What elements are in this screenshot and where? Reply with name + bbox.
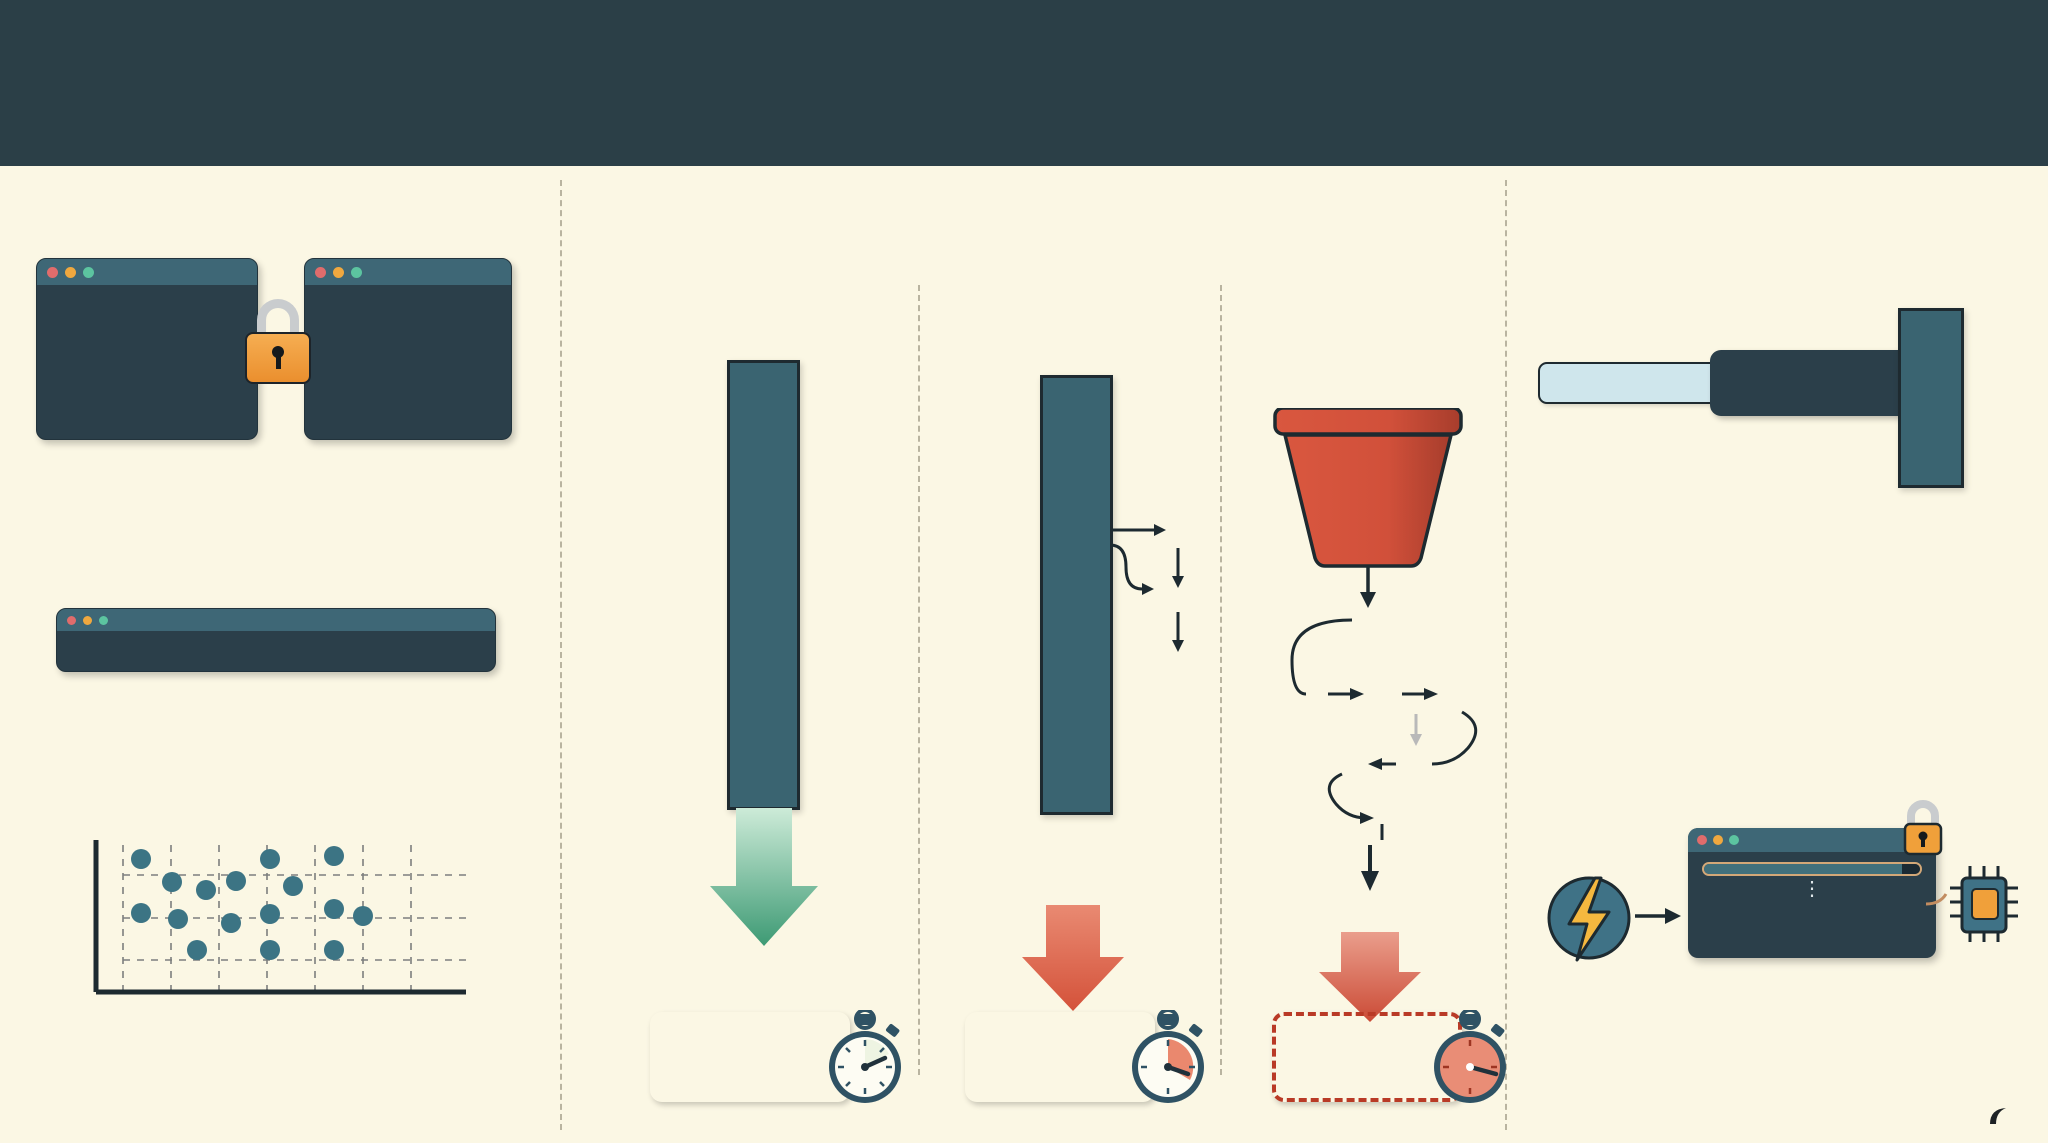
cache-ellipsis: ⋮ xyxy=(1688,882,1936,896)
minimize-icon[interactable] xyxy=(1713,835,1723,845)
stopwatch-icon-slow xyxy=(1118,1010,1218,1115)
lightning-arrow xyxy=(1635,905,1683,927)
window-titlebar xyxy=(57,609,495,631)
spread-arrow-icon xyxy=(706,808,822,953)
stopwatch-icon-fast xyxy=(815,1010,915,1115)
divider-mid-2 xyxy=(1220,285,1222,1075)
code-window-hashcode xyxy=(304,258,512,440)
code-body-equals xyxy=(37,285,257,418)
bucket-pot-icon xyxy=(1268,408,1468,573)
close-icon[interactable] xyxy=(315,267,326,278)
window-titlebar xyxy=(37,259,257,285)
divider-mid-1 xyxy=(918,285,920,1075)
maximize-icon[interactable] xyxy=(83,267,94,278)
minimize-icon[interactable] xyxy=(65,267,76,278)
cached-hash-field-name xyxy=(1704,864,1902,874)
lock-keyhole xyxy=(272,346,284,358)
code-body-record xyxy=(57,631,495,649)
distribution-scatter-chart xyxy=(78,840,468,1010)
high-distribution-bucket-column xyxy=(727,360,800,810)
maximize-icon[interactable] xyxy=(99,616,108,625)
overflow-chain-arrows xyxy=(1108,500,1233,660)
maximize-icon[interactable] xyxy=(351,267,362,278)
code-body-hashcode xyxy=(305,285,511,418)
hash-expression-pill xyxy=(1710,350,1910,416)
watermark xyxy=(1988,1105,2020,1127)
stopwatch-icon-slowest xyxy=(1420,1010,1520,1115)
minimize-icon[interactable] xyxy=(333,267,344,278)
poor-distribution-bucket-column xyxy=(1040,375,1113,815)
internal-storage-column xyxy=(1898,308,1964,488)
degenerate-down-arrow xyxy=(1352,845,1388,893)
overflow-arrow-icon xyxy=(1018,905,1130,1020)
divider-left xyxy=(560,180,562,1130)
cached-hash-field-value xyxy=(1902,864,1920,874)
code-window-record xyxy=(56,608,496,672)
lock-icon xyxy=(245,332,311,384)
close-icon[interactable] xyxy=(47,267,58,278)
page-header xyxy=(0,0,2048,166)
cached-hash-field xyxy=(1702,862,1922,876)
lock-body xyxy=(245,332,311,384)
divider-right xyxy=(1505,180,1507,1130)
colliding-chain-arrows xyxy=(1230,602,1490,852)
window-titlebar xyxy=(305,259,511,285)
key-value-pill xyxy=(1538,362,1724,404)
lock-icon-small xyxy=(1895,800,1951,865)
scatter-svg xyxy=(78,840,468,1010)
close-icon[interactable] xyxy=(67,616,76,625)
lightning-icon xyxy=(1543,872,1635,969)
close-icon[interactable] xyxy=(1697,835,1707,845)
notebooklm-logo-icon xyxy=(1988,1105,2012,1127)
maximize-icon[interactable] xyxy=(1729,835,1739,845)
infographic-page: ⋮ xyxy=(0,0,2048,1143)
code-window-equals xyxy=(36,258,258,440)
math-background xyxy=(1538,560,1838,750)
minimize-icon[interactable] xyxy=(83,616,92,625)
cache-link-line xyxy=(1926,888,1960,912)
